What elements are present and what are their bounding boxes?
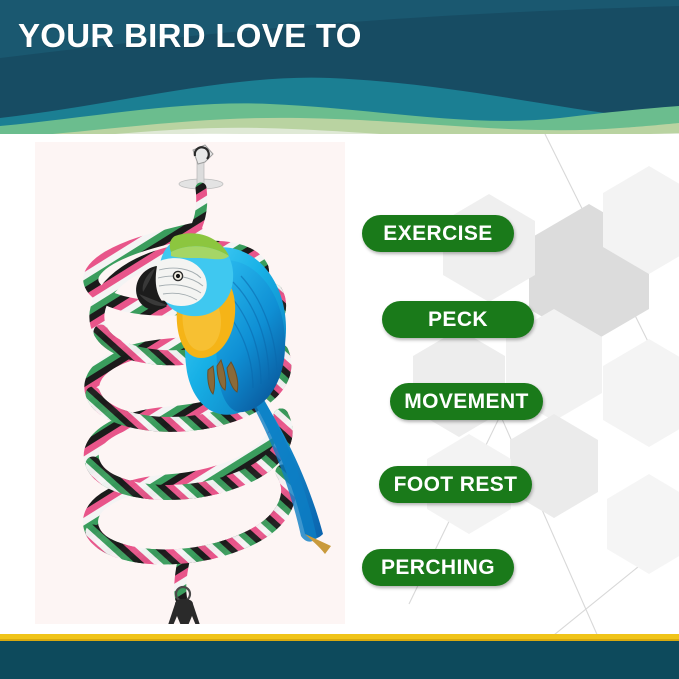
header-banner: YOUR BIRD LOVE TO xyxy=(0,0,679,145)
footer-bar xyxy=(0,641,679,679)
hexagon-shape xyxy=(510,414,598,518)
content-area: EXERCISE PECK MOVEMENT FOOT REST PERCHIN… xyxy=(0,134,679,639)
benefit-label: MOVEMENT xyxy=(404,390,529,414)
benefit-pill-perching[interactable]: PERCHING xyxy=(362,549,514,586)
product-photo-svg xyxy=(35,142,345,624)
infographic-canvas: YOUR BIRD LOVE TO xyxy=(0,0,679,679)
benefit-label: EXERCISE xyxy=(383,222,492,246)
benefit-pill-movement[interactable]: MOVEMENT xyxy=(390,383,543,420)
benefit-label: PERCHING xyxy=(381,556,495,580)
hexagon-shape xyxy=(603,339,679,447)
benefit-label: PECK xyxy=(428,308,488,332)
benefit-label: FOOT REST xyxy=(394,473,518,497)
benefit-pill-foot-rest[interactable]: FOOT REST xyxy=(379,466,532,503)
product-photo xyxy=(35,142,345,624)
page-title: YOUR BIRD LOVE TO xyxy=(18,17,362,55)
benefit-pill-exercise[interactable]: EXERCISE xyxy=(362,215,514,252)
benefit-pill-peck[interactable]: PECK xyxy=(382,301,534,338)
hexagon-shape xyxy=(607,474,679,574)
